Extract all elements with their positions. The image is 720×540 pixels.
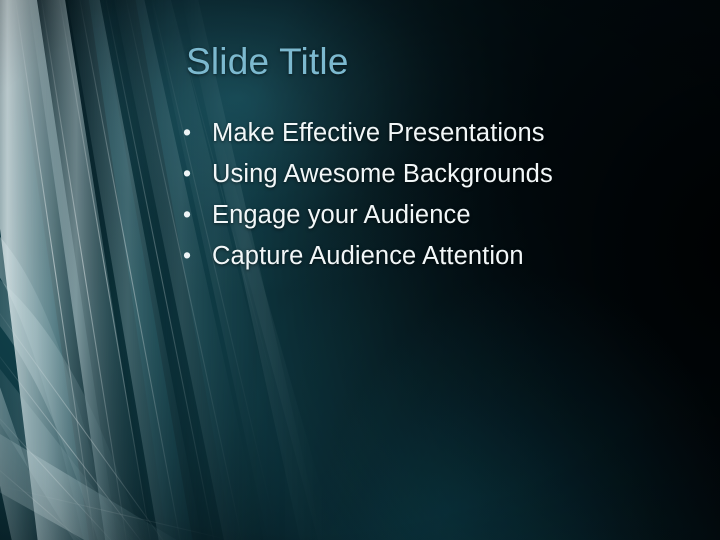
bullet-dot-icon: • (183, 203, 212, 226)
slide-title[interactable]: Slide Title (186, 41, 349, 83)
list-item[interactable]: • Capture Audience Attention (183, 242, 663, 283)
list-item[interactable]: • Engage your Audience (183, 201, 663, 242)
presentation-slide: Slide Title • Make Effective Presentatio… (0, 0, 720, 540)
bullet-list: • Make Effective Presentations • Using A… (183, 119, 663, 283)
bullet-dot-icon: • (183, 162, 212, 185)
bullet-text: Capture Audience Attention (212, 242, 524, 271)
list-item[interactable]: • Make Effective Presentations (183, 119, 663, 160)
slide-content: Slide Title • Make Effective Presentatio… (0, 0, 720, 540)
bullet-text: Engage your Audience (212, 201, 471, 230)
bullet-text: Make Effective Presentations (212, 119, 545, 148)
bullet-dot-icon: • (183, 121, 212, 144)
bullet-text: Using Awesome Backgrounds (212, 160, 553, 189)
list-item[interactable]: • Using Awesome Backgrounds (183, 160, 663, 201)
bullet-dot-icon: • (183, 244, 212, 267)
